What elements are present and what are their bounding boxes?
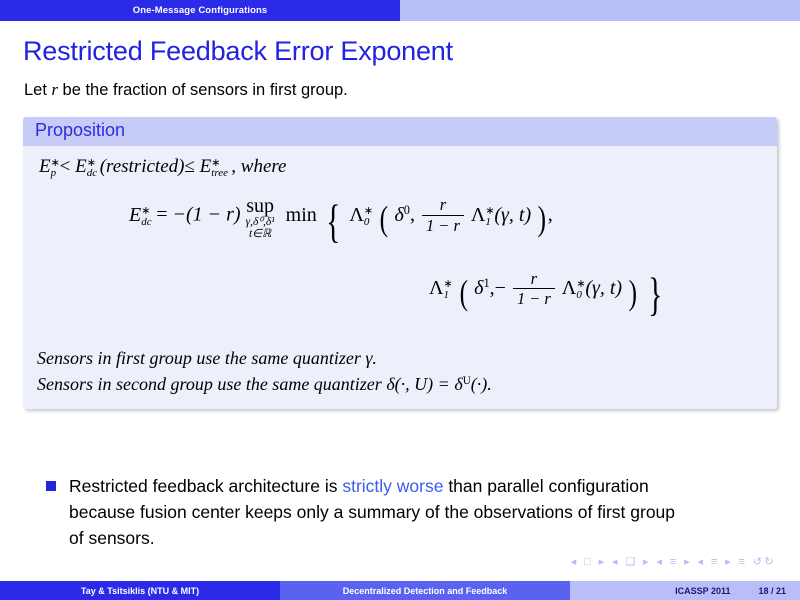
eps-dc-star-restricted: E∗dc(restricted) <box>75 156 184 177</box>
footer-meta: ICASSP 2011 18 / 21 <box>570 581 800 600</box>
footer-title-label: Decentralized Detection and Feedback <box>343 586 508 596</box>
lambda-1-star: Λ∗1(γ, t) <box>471 204 531 226</box>
equation-line-2: Λ∗1 ( δ1,− r 1 − r Λ∗0(γ, t) ) } <box>37 270 763 322</box>
eps-p-star: E∗p <box>39 156 60 177</box>
fraction-numerator-2: r <box>513 270 555 289</box>
displayed-equation: E∗dc= −(1 − r) sup γ,δ⁰,δ¹ t∈ℝ min { Λ∗0… <box>37 194 763 322</box>
headline-section-label: One-Message Configurations <box>133 5 268 16</box>
right-paren-2: ) <box>629 274 637 313</box>
footer-page-number: 18 / 21 <box>758 586 786 596</box>
bullet-highlight: strictly worse <box>342 476 443 496</box>
fraction-r-over-1-minus-r: r 1 − r <box>422 196 464 233</box>
sup-limits-line1: γ,δ⁰,δ¹ <box>246 217 275 229</box>
delta-0: δ0 <box>395 204 411 226</box>
equals-sign: = <box>156 204 167 226</box>
sentence2-superscript: U <box>463 375 471 387</box>
eps-tree-star: E∗tree <box>200 156 232 177</box>
proposition-statement: E∗p< E∗dc(restricted)≤ E∗tree, where <box>39 156 763 178</box>
sentence2-math: δ(·, U) = δU(·). <box>386 374 491 394</box>
navigation-symbols[interactable]: ◂ □ ▸ ◂ ❑ ▸ ◂ ≡ ▸ ◂ ≡ ▸ ≡ ↺↻ <box>571 555 776 568</box>
fraction-denominator: 1 − r <box>422 216 464 234</box>
right-brace: } <box>648 270 662 322</box>
footer-bar: Tay & Tsitsiklis (NTU & MIT) Decentraliz… <box>0 581 800 600</box>
bullet-text: Restricted feedback architecture is stri… <box>69 474 689 552</box>
left-brace: { <box>326 197 340 249</box>
headline-active-section[interactable]: One-Message Configurations <box>0 0 400 21</box>
subtitle-post: be the fraction of sensors in first grou… <box>58 81 348 99</box>
statement-tail: , where <box>231 156 286 177</box>
footer-title: Decentralized Detection and Feedback <box>280 581 570 600</box>
footer-author: Tay & Tsitsiklis (NTU & MIT) <box>0 581 280 600</box>
lambda-0-star-2: Λ∗0(γ, t) <box>562 277 622 299</box>
min-label: min <box>286 204 317 226</box>
subtitle-pre: Let <box>24 81 52 99</box>
proposition-body: E∗p< E∗dc(restricted)≤ E∗tree, where E∗d… <box>23 146 777 409</box>
leq-sign: ≤ <box>184 156 194 177</box>
list-item: Restricted feedback architecture is stri… <box>46 474 746 552</box>
left-paren-2: ( <box>459 274 467 313</box>
page-title: Restricted Feedback Error Exponent <box>23 36 453 67</box>
left-paren-1: ( <box>379 200 387 239</box>
minus-sign: − <box>495 277 506 299</box>
equation-prefactor: −(1 − r) <box>173 204 241 226</box>
bullet-marker-icon <box>46 481 56 491</box>
delta-1: δ1 <box>474 277 490 299</box>
bullet-list: Restricted feedback architecture is stri… <box>46 474 746 552</box>
right-paren-1: ) <box>538 200 546 239</box>
equation-line-1: E∗dc= −(1 − r) sup γ,δ⁰,δ¹ t∈ℝ min { Λ∗0… <box>37 194 763 248</box>
sup-operator: sup γ,δ⁰,δ¹ t∈ℝ <box>246 196 275 240</box>
proposition-sentence-2: Sensors in second group use the same qua… <box>37 374 763 395</box>
fraction-r-over-1-minus-r-2: r 1 − r <box>513 270 555 307</box>
sup-limits-line2: t∈ℝ <box>246 229 275 241</box>
sentence2-pre: Sensors in second group use the same qua… <box>37 374 386 394</box>
footer-venue-label: ICASSP 2011 <box>675 586 730 596</box>
headline-bar: One-Message Configurations <box>0 0 800 21</box>
fraction-denominator-2: 1 − r <box>513 289 555 307</box>
proposition-title: Proposition <box>23 117 777 146</box>
proposition-block: Proposition E∗p< E∗dc(restricted)≤ E∗tre… <box>23 117 777 409</box>
less-than-sign: < <box>60 156 71 177</box>
lambda-0-star: Λ∗0 <box>349 204 373 226</box>
footer-author-label: Tay & Tsitsiklis (NTU & MIT) <box>81 586 199 596</box>
frame-subtitle: Let r be the fraction of sensors in firs… <box>24 80 348 100</box>
proposition-sentence-1: Sensors in first group use the same quan… <box>37 348 763 369</box>
sup-label: sup <box>246 196 275 216</box>
lambda-1-star-2: Λ∗1 <box>429 277 453 299</box>
bullet-text-part1: Restricted feedback architecture is <box>69 476 342 496</box>
fraction-numerator: r <box>422 196 464 215</box>
equation-lhs: E∗dc <box>129 204 156 226</box>
